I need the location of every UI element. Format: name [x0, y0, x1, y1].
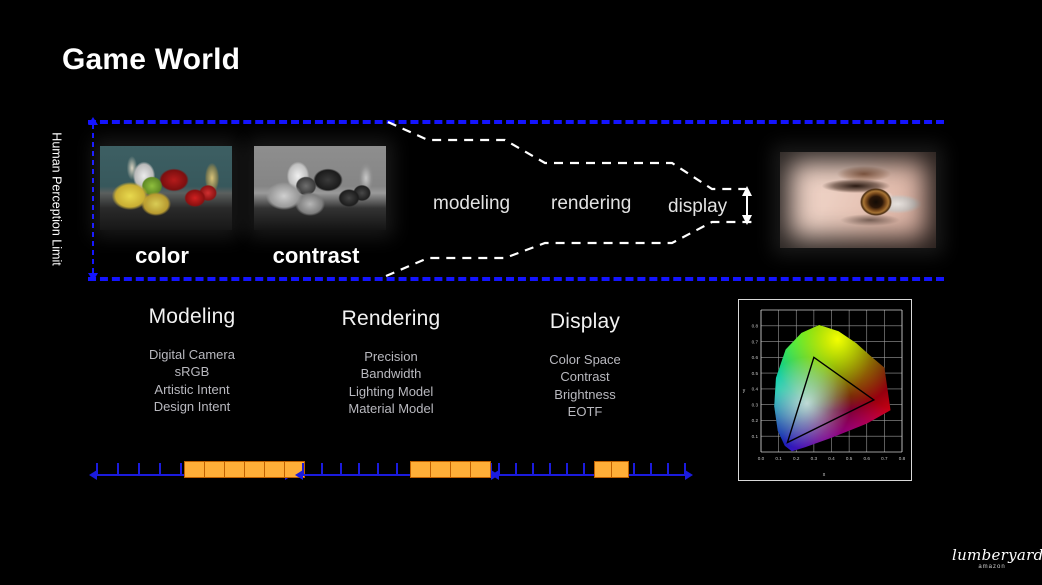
human-perception-limit-text: Human Perception Limit	[50, 132, 64, 265]
slider-block[interactable]	[411, 462, 431, 477]
list-item: EOTF	[475, 403, 695, 420]
stage-label-rendering: rendering	[551, 193, 631, 215]
perception-limit-upper-line	[88, 120, 944, 124]
pipeline-funnel	[0, 0, 1042, 585]
list-item: Artistic Intent	[82, 381, 302, 398]
y-tick-label: 0.4	[752, 387, 759, 392]
x-tick-label: 0.2	[793, 456, 800, 461]
page-title: Game World	[62, 43, 240, 77]
slider-block[interactable]	[205, 462, 225, 477]
eye-photo	[780, 152, 936, 248]
slider-block[interactable]	[431, 462, 451, 477]
x-tick-label: 0.5	[846, 456, 853, 461]
list-item: Brightness	[475, 386, 695, 403]
y-tick-label: 0.7	[752, 339, 759, 344]
list-item: Precision	[281, 348, 501, 365]
stage-label-display: display	[668, 196, 727, 218]
column-modeling: Modeling Digital Camera sRGB Artistic In…	[82, 305, 302, 415]
eye-photo-vignette	[780, 152, 936, 248]
slider-block[interactable]	[225, 462, 245, 477]
x-tick-label: 0.8	[899, 456, 906, 461]
cie-chart-svg: 0.00.10.20.30.40.50.60.70.80.10.20.30.40…	[739, 300, 909, 478]
column-heading-rendering: Rendering	[281, 307, 501, 331]
stage-label-modeling: modeling	[433, 193, 510, 215]
y-tick-label: 0.1	[752, 434, 759, 439]
list-item: Bandwidth	[281, 365, 501, 382]
list-item: sRGB	[82, 363, 302, 380]
list-item: Design Intent	[82, 398, 302, 415]
slider-block[interactable]	[265, 462, 285, 477]
slider-block[interactable]	[245, 462, 265, 477]
lumberyard-logo: lumberyard amazon	[952, 548, 1032, 570]
list-item: Contrast	[475, 368, 695, 385]
column-heading-display: Display	[475, 310, 695, 334]
logo-wordmark: lumberyard	[952, 548, 1032, 563]
x-tick-label: 0.4	[828, 456, 835, 461]
slider-block[interactable]	[451, 462, 471, 477]
column-heading-modeling: Modeling	[82, 305, 302, 329]
cie-y-axis-label: y	[743, 388, 746, 394]
color-photo	[100, 146, 232, 230]
slider-block[interactable]	[471, 462, 490, 477]
human-perception-limit-label: Human Perception Limit	[46, 113, 68, 285]
slider-block[interactable]	[595, 462, 612, 477]
perception-limit-lower-line	[88, 277, 944, 281]
contrast-photo	[254, 146, 386, 230]
y-tick-label: 0.2	[752, 418, 759, 423]
x-tick-label: 0.6	[864, 456, 871, 461]
funnel-upper-edge	[388, 122, 752, 189]
cie-chromaticity-diagram: 0.00.10.20.30.40.50.60.70.80.10.20.30.40…	[738, 299, 912, 481]
range-slider-display[interactable]	[498, 458, 686, 484]
contrast-photo-image	[254, 146, 386, 230]
slider-block[interactable]	[185, 462, 205, 477]
logo-subtext: amazon	[952, 564, 1032, 570]
list-item: Lighting Model	[281, 383, 501, 400]
slider-filled-blocks[interactable]	[184, 461, 305, 478]
column-rendering: Rendering Precision Bandwidth Lighting M…	[281, 307, 501, 417]
slide-canvas: Game World Human Perception Limit color …	[0, 0, 1042, 585]
y-tick-label: 0.6	[752, 355, 759, 360]
column-display: Display Color Space Contrast Brightness …	[475, 310, 695, 420]
range-slider-modeling[interactable]	[96, 458, 286, 484]
color-photo-image	[100, 146, 232, 230]
x-tick-label: 0.0	[758, 456, 765, 461]
x-tick-label: 0.7	[881, 456, 888, 461]
contrast-photo-caption: contrast	[246, 243, 386, 269]
list-item: Material Model	[281, 400, 501, 417]
list-item: Color Space	[475, 351, 695, 368]
cie-x-axis-label: x	[823, 472, 826, 478]
slider-axis	[498, 474, 686, 476]
slider-block[interactable]	[612, 462, 628, 477]
range-slider-rendering[interactable]	[302, 458, 492, 484]
y-tick-label: 0.3	[752, 402, 759, 407]
display-range-arrow-icon	[742, 186, 752, 225]
color-photo-caption: color	[92, 243, 232, 269]
y-tick-label: 0.5	[752, 371, 759, 376]
slider-filled-blocks[interactable]	[594, 461, 629, 478]
x-tick-label: 0.1	[775, 456, 782, 461]
slider-filled-blocks[interactable]	[410, 461, 491, 478]
list-item: Digital Camera	[82, 346, 302, 363]
y-tick-label: 0.8	[752, 324, 759, 329]
funnel-lower-edge	[386, 222, 752, 276]
x-tick-label: 0.3	[811, 456, 818, 461]
